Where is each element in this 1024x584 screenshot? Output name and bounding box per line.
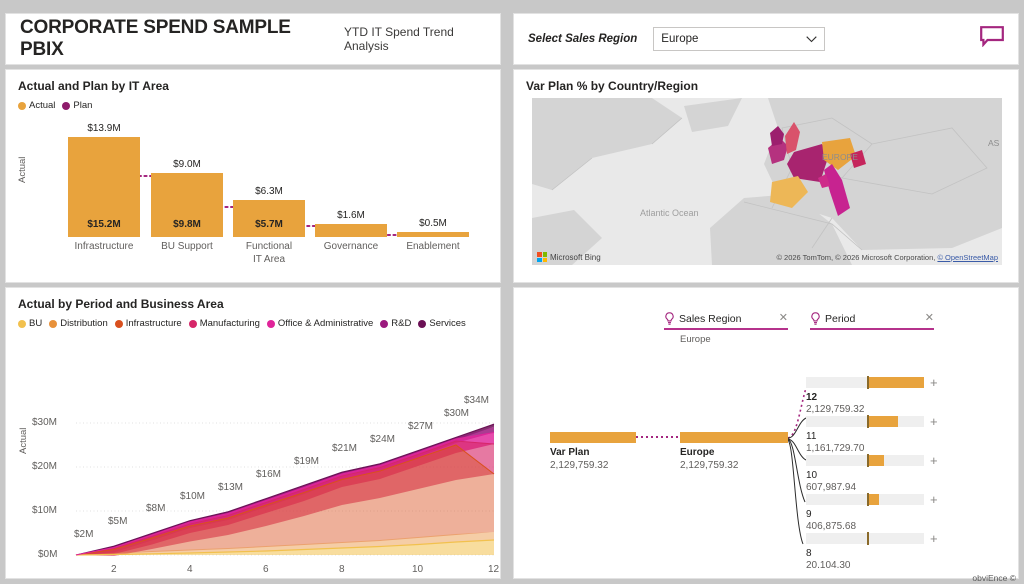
waterfall-plan-label-functional: $6.3M (233, 186, 305, 197)
tree-level-row-12[interactable]: + 12 2,129,759.32 (806, 377, 924, 415)
legend-label-plan: Plan (73, 100, 92, 111)
legend-item-bu[interactable]: BU (18, 318, 42, 329)
tree-level-value: 20,104.30 (806, 560, 924, 568)
area-data-label-p1: $2M (74, 529, 93, 540)
legend-item-services[interactable]: Services (418, 318, 465, 329)
area-legend: BU Distribution Infrastructure Manufactu… (6, 311, 500, 329)
waterfall-bar-governance[interactable] (315, 224, 387, 237)
legend-item-manufacturing[interactable]: Manufacturing (189, 318, 260, 329)
tree-level-fill (867, 377, 924, 388)
map-copyright: © 2026 TomTom, © 2026 Microsoft Corporat… (776, 253, 998, 262)
tree-node-value: 2,129,759.32 (680, 460, 788, 471)
bing-logo-icon (537, 252, 547, 262)
legend-item-plan[interactable]: Plan (62, 100, 92, 111)
tree-level-name: 12 (806, 392, 924, 403)
filter-bar-card: Select Sales Region Europe (514, 14, 1018, 64)
dashboard-canvas: CORPORATE SPEND SAMPLE PBIX YTD IT Spend… (0, 0, 1024, 584)
tree-node-var-plan[interactable]: Var Plan 2,129,759.32 (550, 432, 636, 471)
waterfall-chart-card[interactable]: Actual and Plan by IT Area Actual Plan A… (6, 70, 500, 282)
area-xtick-12: 12 (488, 564, 499, 575)
area-data-label-p7: $19M (294, 456, 319, 467)
legend-label-distribution: Distribution (60, 318, 108, 329)
waterfall-plan-label-infrastructure: $13.9M (68, 123, 140, 134)
waterfall-plan-label-governance: $1.6M (315, 210, 387, 221)
legend-label-services: Services (429, 318, 465, 329)
plus-icon[interactable]: + (930, 375, 938, 390)
legend-swatch-rd (380, 320, 388, 328)
sales-region-dropdown[interactable]: Europe (653, 27, 825, 51)
legend-item-distribution[interactable]: Distribution (49, 318, 108, 329)
area-data-label-p5: $13M (218, 482, 243, 493)
tree-node-name: Var Plan (550, 447, 636, 458)
tree-level-tick (867, 376, 869, 389)
waterfall-plan-label-enablement: $0.5M (397, 218, 469, 229)
tree-level-row-10[interactable]: + 10 607,987.94 (806, 455, 924, 493)
area-data-label-p4: $10M (180, 491, 205, 502)
area-chart-card[interactable]: Actual by Period and Business Area BU Di… (6, 288, 500, 578)
legend-item-rd[interactable]: R&D (380, 318, 411, 329)
openstreetmap-link[interactable]: © OpenStreetMap (937, 253, 998, 262)
legend-label-bu: BU (29, 318, 42, 329)
sales-region-selected-value: Europe (661, 33, 698, 45)
plus-icon[interactable]: + (930, 531, 938, 546)
waterfall-actual-label-bu-support: $9.8M (151, 219, 223, 230)
area-xtick-4: 4 (187, 564, 193, 575)
tree-level-tick (867, 532, 869, 545)
tree-level-tick (867, 454, 869, 467)
tree-level-value: 1,161,729.70 (806, 443, 924, 454)
area-xtick-6: 6 (263, 564, 269, 575)
legend-item-office-administrative[interactable]: Office & Administrative (267, 318, 373, 329)
report-header-card: CORPORATE SPEND SAMPLE PBIX YTD IT Spend… (6, 14, 500, 64)
waterfall-category-governance: Governance (307, 241, 395, 252)
tree-level-fill (867, 416, 898, 427)
tree-node-bar (550, 432, 636, 443)
waterfall-actual-label-functional: $5.7M (233, 219, 305, 230)
waterfall-title: Actual and Plan by IT Area (6, 70, 500, 93)
tree-level-tick (867, 415, 869, 428)
tree-level-row-8[interactable]: + 8 20,104.30 (806, 533, 924, 568)
tree-node-bar (680, 432, 788, 443)
map-continent-label: EUROPE (822, 152, 858, 162)
map-title: Var Plan % by Country/Region (514, 70, 1018, 93)
tree-level-row-9[interactable]: + 9 406,875.68 (806, 494, 924, 532)
legend-swatch-office-administrative (267, 320, 275, 328)
tree-level-name: 9 (806, 509, 924, 520)
waterfall-plot-area[interactable]: Actual $13.9M $9.0M $6.3M $1.6M $0.5M $1… (6, 111, 500, 271)
legend-label-manufacturing: Manufacturing (200, 318, 260, 329)
waterfall-category-infrastructure: Infrastructure (60, 241, 148, 252)
tree-level-fill (867, 455, 884, 466)
tree-level-track: + (806, 416, 924, 427)
tree-level-value: 607,987.94 (806, 482, 924, 493)
area-xtick-10: 10 (412, 564, 423, 575)
tree-level-track: + (806, 494, 924, 505)
page-subtitle: YTD IT Spend Trend Analysis (344, 25, 500, 53)
map-asia-label: AS (988, 138, 1000, 148)
area-title: Actual by Period and Business Area (6, 288, 500, 311)
tree-level-row-11[interactable]: + 11 1,161,729.70 (806, 416, 924, 454)
legend-swatch-services (418, 320, 426, 328)
legend-label-rd: R&D (391, 318, 411, 329)
waterfall-category-enablement: Enablement (389, 241, 477, 252)
tree-level-fill (867, 494, 879, 505)
map-graphic: EUROPE Atlantic Ocean AS (532, 98, 1002, 265)
bing-provider-label: Microsoft Bing (550, 253, 601, 262)
area-data-label-p9: $24M (370, 434, 395, 445)
area-data-label-p10: $27M (408, 421, 433, 432)
waterfall-bar-enablement[interactable] (397, 232, 469, 237)
tree-level-track: + (806, 455, 924, 466)
plus-icon[interactable]: + (930, 414, 938, 429)
tree-node-europe[interactable]: Europe 2,129,759.32 (680, 432, 788, 471)
legend-label-infrastructure: Infrastructure (126, 318, 182, 329)
legend-swatch-bu (18, 320, 26, 328)
tree-level-name: 11 (806, 431, 924, 442)
waterfall-x-axis-title: IT Area (225, 254, 313, 265)
waterfall-legend: Actual Plan (6, 93, 500, 111)
waterfall-category-bu-support: BU Support (143, 241, 231, 252)
area-data-label-p8: $21M (332, 443, 357, 454)
slicer-label: Select Sales Region (528, 33, 637, 45)
plus-icon[interactable]: + (930, 492, 938, 507)
tree-level-track: + (806, 377, 924, 388)
legend-item-infrastructure[interactable]: Infrastructure (115, 318, 182, 329)
tree-level-value: 406,875.68 (806, 521, 924, 532)
legend-label-office-administrative: Office & Administrative (278, 318, 373, 329)
comment-bubble-button[interactable] (980, 26, 1004, 52)
tree-node-value: 2,129,759.32 (550, 460, 636, 471)
plus-icon[interactable]: + (930, 453, 938, 468)
legend-swatch-distribution (49, 320, 57, 328)
speech-bubble-icon (980, 26, 1004, 47)
waterfall-plan-label-bu-support: $9.0M (151, 159, 223, 170)
map-card[interactable]: Var Plan % by Country/Region (514, 70, 1018, 282)
page-title: CORPORATE SPEND SAMPLE PBIX (20, 17, 337, 61)
area-xtick-2: 2 (111, 564, 117, 575)
area-data-label-p2: $5M (108, 516, 127, 527)
area-xtick-8: 8 (339, 564, 345, 575)
tree-level-tick (867, 493, 869, 506)
legend-swatch-infrastructure (115, 320, 123, 328)
tree-level-track: + (806, 533, 924, 544)
map-copyright-text: © 2026 TomTom, © 2026 Microsoft Corporat… (776, 253, 935, 262)
area-plot-area[interactable]: Actual $30M $20M $10M $0M (6, 344, 500, 572)
area-data-label-p6: $16M (256, 469, 281, 480)
waterfall-category-functional: Functional (225, 241, 313, 252)
legend-swatch-manufacturing (189, 320, 197, 328)
legend-swatch-actual (18, 102, 26, 110)
report-footer: obviEnce © (972, 573, 1016, 583)
legend-label-actual: Actual (29, 100, 55, 111)
legend-item-actual[interactable]: Actual (18, 100, 55, 111)
bing-attribution: Microsoft Bing (537, 252, 601, 262)
legend-swatch-plan (62, 102, 70, 110)
map-viewport[interactable]: EUROPE Atlantic Ocean AS Microsoft Bing … (532, 98, 1002, 265)
waterfall-actual-label-infrastructure: $15.2M (68, 219, 140, 230)
tree-level-value: 2,129,759.32 (806, 404, 924, 415)
area-data-label-p12: $34M (464, 395, 489, 406)
area-data-label-p3: $8M (146, 503, 165, 514)
area-data-label-p11: $30M (444, 408, 469, 419)
map-ocean-label: Atlantic Ocean (640, 208, 699, 218)
tree-node-name: Europe (680, 447, 788, 458)
tree-level-name: 10 (806, 470, 924, 481)
tree-level-name: 8 (806, 548, 924, 559)
chevron-down-icon (806, 36, 817, 43)
decomposition-tree-card[interactable]: Sales Region ✕ Europe Period ✕ (514, 288, 1018, 578)
